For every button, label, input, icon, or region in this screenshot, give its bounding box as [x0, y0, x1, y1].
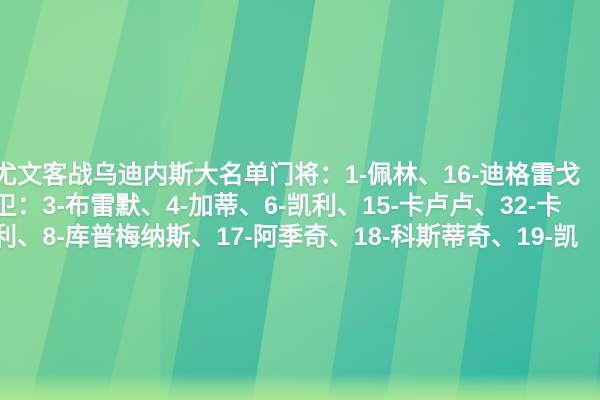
- image-canvas: 尤文客战乌迪内斯大名单门将：1-佩林、16-迪格雷戈 卫：3-布雷默、4-加蒂、…: [0, 0, 600, 400]
- text-line-3: 利、8-库普梅纳斯、17-阿季奇、18-科斯蒂奇、19-凯: [0, 222, 600, 253]
- background-bottom-strip: [0, 374, 600, 400]
- text-line-1: 尤文客战乌迪内斯大名单门将：1-佩林、16-迪格雷戈: [0, 160, 600, 191]
- squad-list-text: 尤文客战乌迪内斯大名单门将：1-佩林、16-迪格雷戈 卫：3-布雷默、4-加蒂、…: [0, 160, 600, 253]
- text-line-2: 卫：3-布雷默、4-加蒂、6-凯利、15-卡卢卢、32-卡: [0, 191, 600, 222]
